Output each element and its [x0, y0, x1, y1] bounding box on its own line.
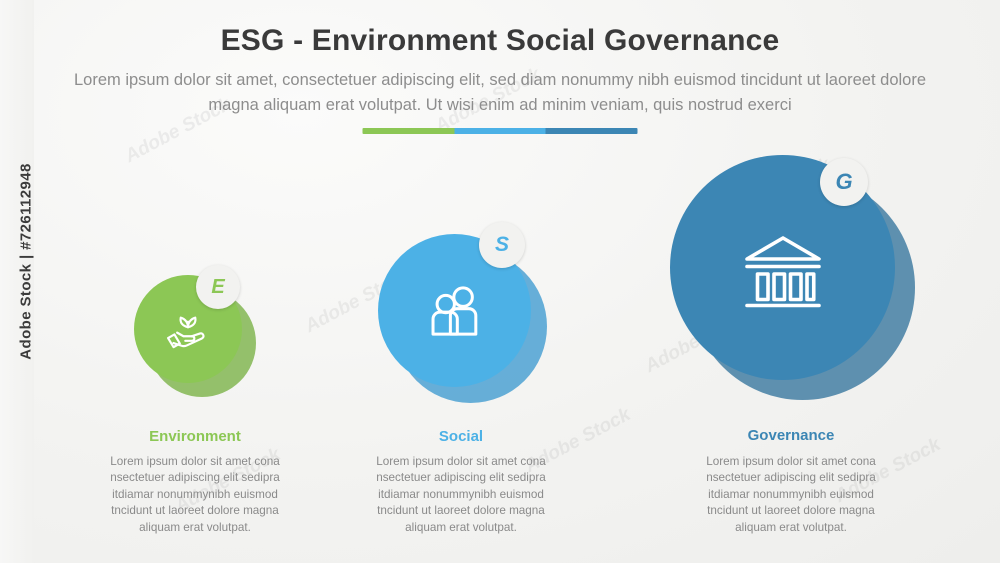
social-badge: S: [479, 222, 525, 268]
environment-badge: E: [196, 265, 240, 309]
governance-heading: Governance: [692, 427, 890, 444]
environment-heading: Environment: [96, 428, 294, 445]
column-social: S Social Lorem ipsum dolor sit amet cona…: [362, 0, 560, 563]
social-body: Lorem ipsum dolor sit amet cona nsectetu…: [362, 454, 560, 536]
watermark-label: Adobe Stock | #726112948: [18, 132, 35, 392]
social-heading: Social: [362, 428, 560, 445]
environment-body: Lorem ipsum dolor sit amet cona nsectetu…: [96, 454, 294, 536]
column-environment: E Environment Lorem ipsum dolor sit amet…: [96, 0, 294, 563]
column-governance: G Governance Lorem ipsum dolor sit amet …: [692, 0, 890, 563]
environment-badge-letter: E: [211, 276, 224, 299]
environment-graphic[interactable]: E: [134, 275, 256, 397]
governance-badge: G: [820, 158, 868, 206]
people-icon: [418, 274, 492, 348]
governance-badge-letter: G: [835, 169, 852, 195]
hand-plant-icon: [159, 300, 217, 358]
governance-graphic[interactable]: G: [670, 155, 918, 403]
infographic-canvas: Adobe Stock Adobe Stock Adobe Stock Adob…: [0, 0, 1000, 563]
social-badge-letter: S: [495, 233, 509, 257]
bank-building-icon: [735, 220, 831, 316]
social-graphic[interactable]: S: [378, 234, 550, 406]
governance-body: Lorem ipsum dolor sit amet cona nsectetu…: [692, 454, 890, 536]
